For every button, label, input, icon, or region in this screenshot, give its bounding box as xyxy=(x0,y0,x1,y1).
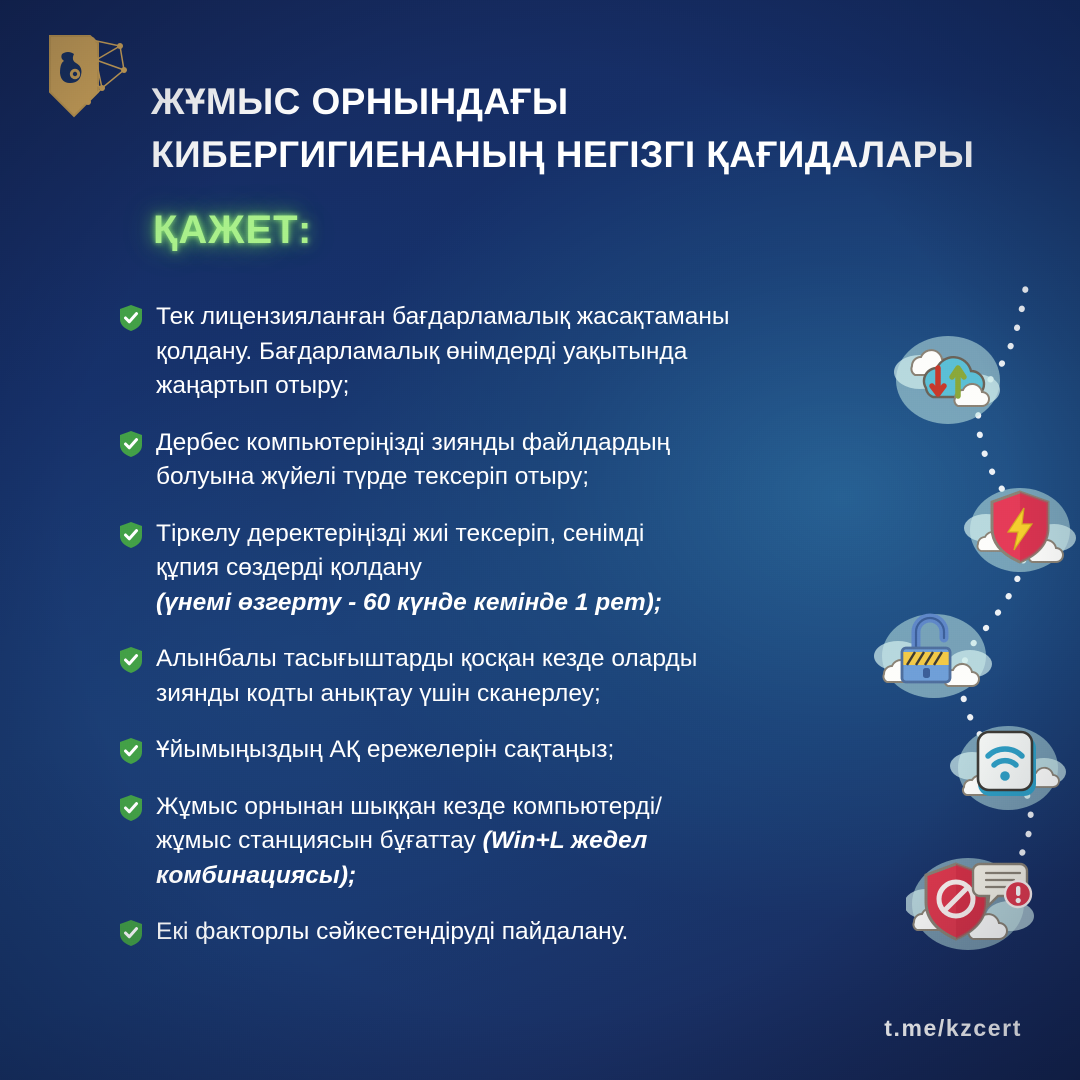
green-shield-check-icon xyxy=(118,521,144,549)
list-item-text: Жұмыс орнынан шыққан кезде компьютерді/ … xyxy=(156,790,662,894)
page-title: ЖҰМЫС ОРНЫНДАҒЫ КИБЕРГИГИЕНАНЫҢ НЕГІЗГІ … xyxy=(151,76,1051,181)
list-item-text: Тіркелу деректеріңізді жиі тексеріп, сен… xyxy=(156,517,662,621)
list-item: Жұмыс орнынан шыққан кезде компьютерді/ … xyxy=(118,790,878,894)
list-item-text: Алынбалы тасығыштарды қосқан кезде олард… xyxy=(156,642,697,711)
list-item: Екі факторлы сәйкестендіруді пайдалану. xyxy=(118,915,878,950)
list-item: Ұйымыңыздың АҚ ережелерін сақтаңыз; xyxy=(118,733,878,768)
cloud-sync-arrows-icon xyxy=(888,320,1008,440)
cloud-wifi-device-icon xyxy=(948,710,1068,830)
infographic-poster: ЖҰМЫС ОРНЫНДАҒЫ КИБЕРГИГИЕНАНЫҢ НЕГІЗГІ … xyxy=(0,0,1080,1080)
green-shield-check-icon xyxy=(118,646,144,674)
green-shield-check-icon xyxy=(118,304,144,332)
section-subtitle: ҚАЖЕТ: xyxy=(153,208,312,253)
list-item: Тек лицензияланған бағдарламалық жасақта… xyxy=(118,300,878,404)
kzcert-shield-logo-icon xyxy=(44,30,130,122)
list-item: Дербес компьютеріңізді зиянды файлдардың… xyxy=(118,426,878,495)
green-shield-check-icon xyxy=(118,737,144,765)
title-line-2: КИБЕРГИГИЕНАНЫҢ НЕГІЗГІ ҚАҒИДАЛАРЫ xyxy=(151,129,1051,182)
green-shield-check-icon xyxy=(118,430,144,458)
cloud-shield-blocked-alert-icon xyxy=(906,842,1026,962)
green-shield-check-icon xyxy=(118,919,144,947)
cloud-shield-lightning-icon xyxy=(960,472,1080,592)
list-item: Алынбалы тасығыштарды қосқан кезде олард… xyxy=(118,642,878,711)
list-item-text: Дербес компьютеріңізді зиянды файлдардың… xyxy=(156,426,670,495)
rules-list: Тек лицензияланған бағдарламалық жасақта… xyxy=(118,300,878,972)
dotted-path-line xyxy=(860,280,1080,980)
illustration-column xyxy=(860,280,1080,960)
list-item-text: Тек лицензияланған бағдарламалық жасақта… xyxy=(156,300,730,404)
green-shield-check-icon xyxy=(118,794,144,822)
list-item-text: Ұйымыңыздың АҚ ережелерін сақтаңыз; xyxy=(156,733,614,768)
telegram-handle[interactable]: t.me/kzcert xyxy=(884,1015,1022,1042)
list-item-text: Екі факторлы сәйкестендіруді пайдалану. xyxy=(156,915,628,950)
cloud-unlocked-padlock-icon xyxy=(874,598,994,718)
title-line-1: ЖҰМЫС ОРНЫНДАҒЫ xyxy=(151,76,1051,129)
list-item: Тіркелу деректеріңізді жиі тексеріп, сен… xyxy=(118,517,878,621)
